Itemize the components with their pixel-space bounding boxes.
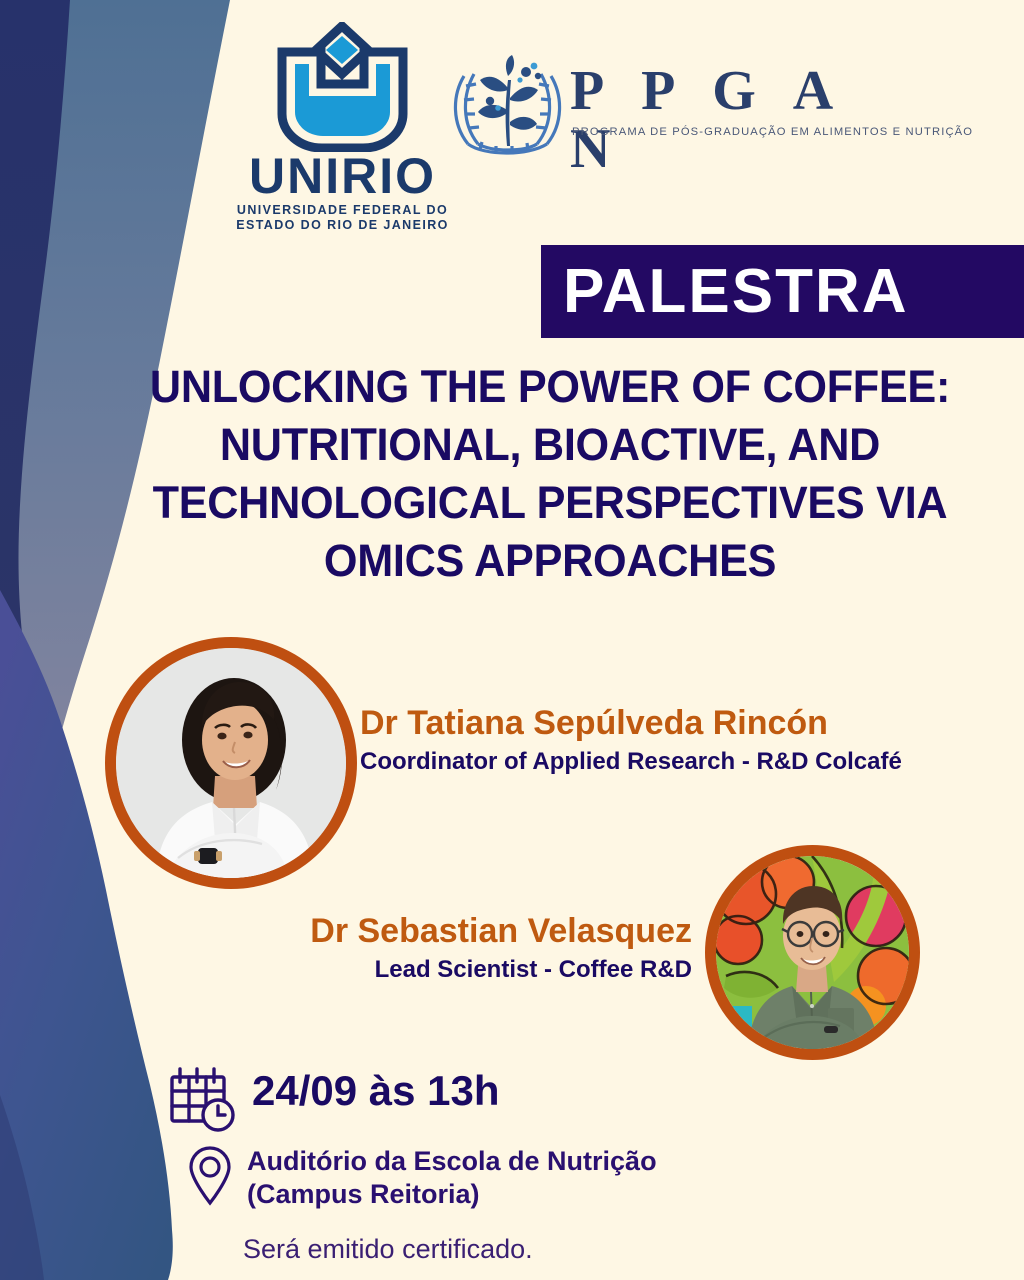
unirio-logo: UNIRIO UNIVERSIDADE FEDERAL DO ESTADO DO…: [235, 22, 450, 212]
speaker-portrait-sebastian: [716, 856, 909, 1049]
speaker-1-name: Dr Tatiana Sepúlveda Rincón: [360, 702, 1020, 744]
palestra-label: PALESTRA: [541, 261, 909, 323]
speaker-1: Dr Tatiana Sepúlveda Rincón Coordinator …: [105, 637, 357, 889]
speaker-photo-sebastian: [705, 845, 920, 1060]
speaker-2-name: Dr Sebastian Velasquez: [132, 910, 692, 952]
event-poster: UNIRIO UNIVERSIDADE FEDERAL DO ESTADO DO…: [0, 0, 1024, 1280]
certificate-note: Será emitido certificado.: [243, 1232, 533, 1266]
speaker-1-role: Coordinator of Applied Research - R&D Co…: [360, 746, 1020, 778]
talk-title: UNLOCKING THE POWER OF COFFEE: NUTRITION…: [104, 358, 997, 590]
unirio-name: UNIRIO: [235, 152, 450, 200]
speaker-photo-tatiana: [105, 637, 357, 889]
logo-row: UNIRIO UNIVERSIDADE FEDERAL DO ESTADO DO…: [205, 22, 905, 217]
speaker-portrait-tatiana: [116, 648, 346, 878]
title-line-3: TECHNOLOGICAL PERSPECTIVES VIA: [104, 474, 997, 532]
ppgan-wordmark: P P G A N: [570, 62, 870, 178]
title-line-4: OMICS APPROACHES: [104, 532, 997, 590]
place-line-2: (Campus Reitoria): [247, 1178, 657, 1211]
speaker-2-info: Dr Sebastian Velasquez Lead Scientist - …: [132, 910, 692, 986]
palestra-banner: PALESTRA: [541, 245, 1024, 338]
speaker-2-role: Lead Scientist - Coffee R&D: [132, 954, 692, 986]
date-row: 24/09 às 13h: [168, 1065, 500, 1133]
title-line-2: NUTRITIONAL, BIOACTIVE, AND: [104, 416, 997, 474]
place-row: Auditório da Escola de Nutrição (Campus …: [186, 1145, 657, 1211]
unirio-subtitle-line1: UNIVERSIDADE FEDERAL DO: [235, 203, 450, 218]
title-line-1: UNLOCKING THE POWER OF COFFEE:: [104, 358, 997, 416]
calendar-clock-icon: [168, 1065, 240, 1133]
unirio-crest-icon: [235, 22, 450, 152]
place-text: Auditório da Escola de Nutrição (Campus …: [247, 1145, 657, 1211]
ppgan-plant-dna-icon: [450, 54, 565, 159]
ppgan-subtitle: PROGRAMA DE PÓS-GRADUAÇÃO EM ALIMENTOS E…: [572, 126, 973, 138]
place-line-1: Auditório da Escola de Nutrição: [247, 1145, 657, 1178]
unirio-subtitle-line2: ESTADO DO RIO DE JANEIRO: [235, 218, 450, 233]
ppgan-logo: P P G A N PROGRAMA DE PÓS-GRADUAÇÃO EM A…: [450, 54, 870, 169]
unirio-wordmark: UNIRIO UNIVERSIDADE FEDERAL DO ESTADO DO…: [235, 152, 450, 233]
date-text: 24/09 às 13h: [252, 1065, 500, 1117]
location-pin-icon: [186, 1145, 234, 1207]
speaker-1-info: Dr Tatiana Sepúlveda Rincón Coordinator …: [360, 702, 1020, 778]
speaker-2: Dr Sebastian Velasquez Lead Scientist - …: [705, 845, 920, 1060]
